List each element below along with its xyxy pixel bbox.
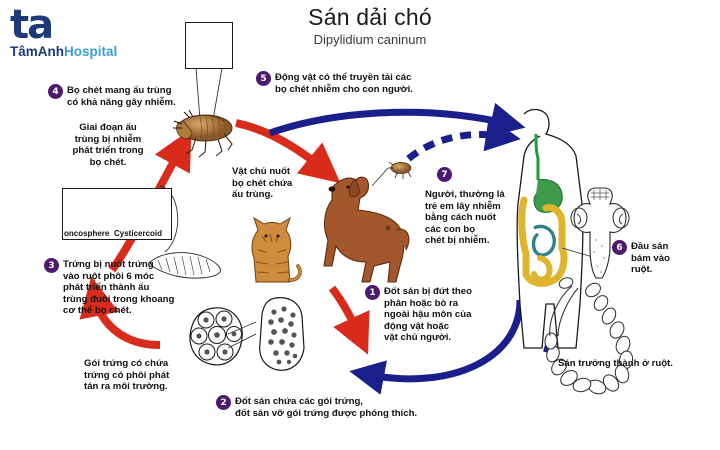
logo-wordmark: TâmAnhHospital xyxy=(10,45,130,59)
annotation-adult-worm: Sán trưởng thành ở ruột. xyxy=(558,358,673,370)
host-swallows-line-3: ấu trùng. xyxy=(232,189,327,201)
cysticercoid-label: Cysticercoid xyxy=(114,229,162,238)
leader-line-proglottid-eggs-1 xyxy=(228,322,256,334)
step-7-line-3: bằng cách nuốt xyxy=(425,212,527,224)
step-3-line-2: vào ruột phôi 6 móc xyxy=(63,271,174,283)
host-swallows-line-2: bọ chét chứa xyxy=(232,178,327,190)
small-flea-illustration xyxy=(388,162,411,179)
cat-illustration xyxy=(252,218,300,282)
leader-line-intestine-to-scolex xyxy=(562,248,596,258)
step-2-line-1: Đốt sán chứa các gói trứng, xyxy=(235,396,417,408)
step-7-badge: 7 xyxy=(437,167,452,182)
step-3-line-5: cơ thể bọ chét. xyxy=(63,305,174,317)
egg-packet-line-3: tán ra môi trường. xyxy=(84,381,194,393)
infographic-canvas: ta TâmAnhHospital Sán dải chó Dipylidium… xyxy=(0,0,720,450)
step-7-line-4: các con bọ xyxy=(425,224,527,236)
step-2-line-2: đốt sán vỡ gói trứng được phóng thích. xyxy=(235,408,417,420)
leader-line-proglottid-eggs-2 xyxy=(228,334,256,348)
brand-logo: ta TâmAnhHospital xyxy=(10,8,130,59)
step-4-line-1: Bọ chét mang ấu trùng xyxy=(67,85,176,97)
oncosphere-label: oncosphere xyxy=(64,229,109,238)
human-torso-illustration xyxy=(517,110,596,349)
title-main: Sán dải chó xyxy=(255,4,485,31)
leader-line-cysticercoid-right xyxy=(213,68,222,120)
tapeworm-neck xyxy=(558,276,575,290)
flea-illustration xyxy=(173,110,232,157)
page-title: Sán dải chó Dipylidium caninum xyxy=(255,4,485,47)
step-6-line-3: ruột. xyxy=(631,264,670,276)
larva-stage-line-1: Giai đoạn ấu xyxy=(58,122,158,134)
step-7-line-1: Người, thường là xyxy=(425,189,527,201)
host-swallows-line-1: Vật chủ nuốt xyxy=(232,166,327,178)
step-5-line-1: Động vật có thể truyền tải các xyxy=(275,72,413,84)
stomach xyxy=(534,180,562,213)
step-7-line-5: chét bị nhiễm. xyxy=(425,235,527,247)
tapeworm-segments xyxy=(544,280,634,396)
gravid-proglottid-illustration xyxy=(260,298,304,371)
annotation-larva-stage: Giai đoạn ấu trùng bị nhiễm phát triển t… xyxy=(58,122,158,168)
cysticercoid-detail-box xyxy=(185,22,233,69)
esophagus xyxy=(536,134,538,180)
arrow-red-dog-to-proglottid xyxy=(332,288,358,333)
arrow-red-flea-to-dog xyxy=(236,123,322,168)
step-3-line-4: trùng đuôi trong khoang xyxy=(63,294,174,306)
step-1-line-1: Đốt sán bị đứt theo xyxy=(384,286,472,298)
step-6-line-1: Đầu sán xyxy=(631,241,670,253)
annotation-egg-packet: Gói trứng có chứa trứng có phôi phát tán… xyxy=(84,358,194,393)
leader-line-dog-flea xyxy=(372,168,388,186)
larva-stage-line-3: phát triển trong xyxy=(58,145,158,157)
adult-tapeworm-illustration xyxy=(544,276,634,396)
step-1-line-4: động vật hoặc xyxy=(384,321,472,333)
larva-stage-line-4: bọ chét. xyxy=(58,157,158,169)
scolex-illustration xyxy=(571,188,629,278)
step-7-line-2: trẻ em lây nhiễm xyxy=(425,201,527,213)
large-intestine xyxy=(522,200,564,283)
step-3-line-1: Trứng bị nuốt trứng xyxy=(63,259,174,271)
arrow-blue-animal-to-human xyxy=(270,112,505,133)
step-5-line-2: bọ chét nhiễm cho con người. xyxy=(275,84,413,96)
egg-packet-line-2: trứng có phôi phát xyxy=(84,370,194,382)
step-4-line-2: có khả năng gây nhiễm. xyxy=(67,97,176,109)
leader-line-cysticercoid-left xyxy=(196,68,200,120)
title-subtitle: Dipylidium caninum xyxy=(255,32,485,47)
step-1-line-3: ngoài hậu môn của xyxy=(384,309,472,321)
step-3-badge: 3 xyxy=(44,258,59,273)
dog-illustration xyxy=(324,177,409,282)
logo-mark: ta xyxy=(10,8,130,42)
annotation-host-swallows: Vật chủ nuốt bọ chét chứa ấu trùng. xyxy=(232,166,327,201)
logo-name-primary: TâmAnh xyxy=(10,44,64,59)
accent-mark-torso xyxy=(545,338,549,352)
egg-packet-illustration xyxy=(190,308,242,365)
arrow-blue-dashed-flea-to-human xyxy=(395,135,500,173)
step-2-badge: 2 xyxy=(216,395,231,410)
step-1-line-2: phân hoặc bò ra xyxy=(384,298,472,310)
larva-stage-line-2: trùng bị nhiễm xyxy=(58,134,158,146)
step-1-badge: 1 xyxy=(365,285,380,300)
step-6-line-2: bám vào xyxy=(631,253,670,265)
logo-name-secondary: Hospital xyxy=(64,44,117,59)
step-7-text: Người, thường là trẻ em lây nhiễm bằng c… xyxy=(425,189,527,247)
step-3-line-3: phát triển thành ấu xyxy=(63,282,174,294)
step-1-line-5: vật chủ người. xyxy=(384,332,472,344)
step-4-badge: 4 xyxy=(48,84,63,99)
step-5-badge: 5 xyxy=(256,71,271,86)
rectum xyxy=(534,258,550,280)
egg-packet-line-1: Gói trứng có chứa xyxy=(84,358,194,370)
small-intestine xyxy=(534,226,555,255)
step-6-badge: 6 xyxy=(612,240,627,255)
